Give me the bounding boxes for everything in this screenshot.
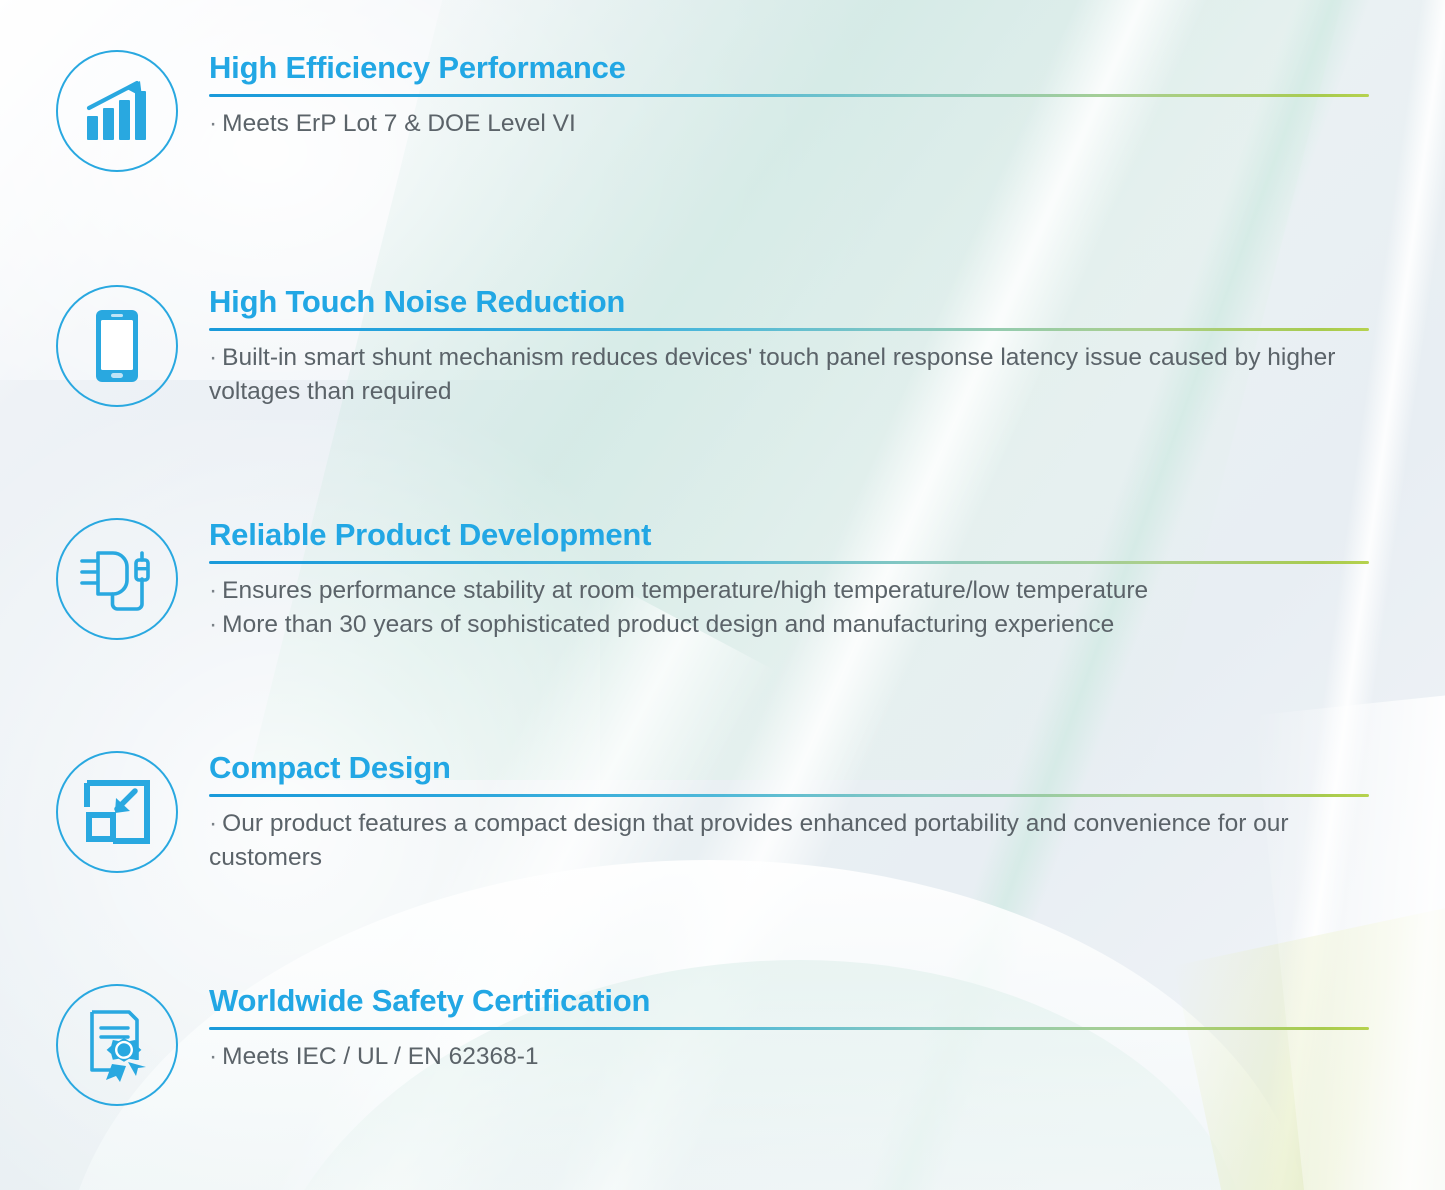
feature-body: Worldwide Safety Certification ·Meets IE… <box>209 985 1369 1074</box>
feature-body: High Touch Noise Reduction ·Built-in sma… <box>209 286 1369 410</box>
feature-line-text: Meets IEC / UL / EN 62368-1 <box>222 1043 538 1070</box>
feature-title: High Efficiency Performance <box>209 52 1369 85</box>
bullet-glyph: · <box>209 611 217 638</box>
feature-body: Reliable Product Development ·Ensures pe… <box>209 519 1369 643</box>
feature-line-text: Ensures performance stability at room te… <box>222 577 1148 604</box>
feature-divider <box>209 1027 1369 1030</box>
feature-body: High Efficiency Performance ·Meets ErP L… <box>209 52 1369 141</box>
feature-line: ·Our product features a compact design t… <box>209 807 1369 877</box>
certificate-award-icon <box>82 1008 152 1082</box>
power-adapter-icon <box>78 544 156 614</box>
feature-line-text: Built-in smart shunt mechanism reduces d… <box>209 344 1335 406</box>
feature-line-text: Our product features a compact design th… <box>209 810 1289 872</box>
feature-line-text: Meets ErP Lot 7 & DOE Level VI <box>222 110 576 137</box>
feature-line: ·Built-in smart shunt mechanism reduces … <box>209 341 1369 411</box>
bullet-glyph: · <box>209 577 217 604</box>
resize-compact-icon <box>83 779 151 845</box>
bullet-glyph: · <box>209 110 217 137</box>
feature-description: ·Meets IEC / UL / EN 62368-1 <box>209 1040 1369 1075</box>
feature-icon-circle <box>56 50 178 172</box>
smartphone-icon <box>95 309 139 383</box>
feature-description: ·Meets ErP Lot 7 & DOE Level VI <box>209 107 1369 142</box>
feature-icon-circle <box>56 751 178 873</box>
feature-highlights-page: High Efficiency Performance ·Meets ErP L… <box>0 0 1445 1190</box>
feature-title: Reliable Product Development <box>209 519 1369 552</box>
feature-divider <box>209 561 1369 564</box>
feature-line-text: More than 30 years of sophisticated prod… <box>222 611 1114 638</box>
feature-icon-circle <box>56 285 178 407</box>
feature-title: High Touch Noise Reduction <box>209 286 1369 319</box>
feature-description: ·Our product features a compact design t… <box>209 807 1369 877</box>
feature-divider <box>209 794 1369 797</box>
feature-title: Worldwide Safety Certification <box>209 985 1369 1018</box>
feature-description: ·Ensures performance stability at room t… <box>209 574 1369 644</box>
bullet-glyph: · <box>209 810 217 837</box>
feature-icon-circle <box>56 518 178 640</box>
feature-line: ·Meets IEC / UL / EN 62368-1 <box>209 1040 1369 1075</box>
feature-body: Compact Design ·Our product features a c… <box>209 752 1369 876</box>
feature-description: ·Built-in smart shunt mechanism reduces … <box>209 341 1369 411</box>
feature-icon-circle <box>56 984 178 1106</box>
bar-chart-growth-icon <box>84 80 150 142</box>
bullet-glyph: · <box>209 344 217 371</box>
feature-line: ·Meets ErP Lot 7 & DOE Level VI <box>209 107 1369 142</box>
feature-title: Compact Design <box>209 752 1369 785</box>
feature-line: ·More than 30 years of sophisticated pro… <box>209 608 1369 643</box>
feature-divider <box>209 328 1369 331</box>
bullet-glyph: · <box>209 1043 217 1070</box>
feature-divider <box>209 94 1369 97</box>
feature-line: ·Ensures performance stability at room t… <box>209 574 1369 609</box>
